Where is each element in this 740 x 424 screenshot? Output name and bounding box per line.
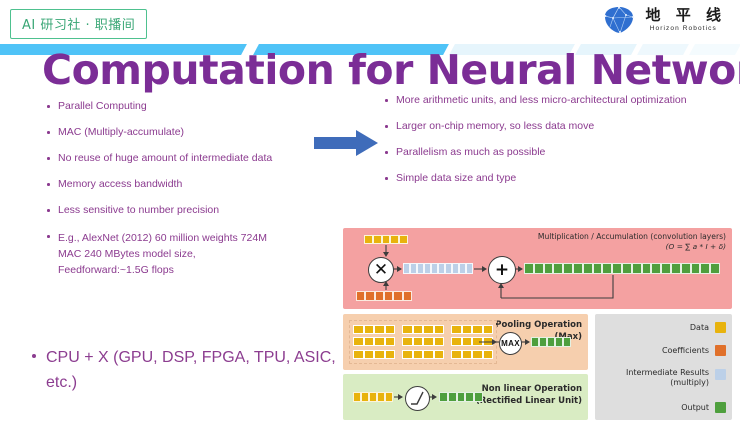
mac-coefficients-strip: [356, 291, 412, 301]
pooling-block: [353, 325, 395, 334]
cpu-plus-x-note: CPU + X (GPU, DSP, FPGA, TPU, ASIC, etc.…: [30, 345, 366, 395]
pooling-grid-row: [353, 325, 493, 334]
logo-chinese-name: 地 平 线: [641, 8, 726, 23]
pooling-block: [451, 337, 493, 346]
list-item: MAC (Multiply-accumulate): [44, 126, 324, 139]
legend-item-data: Data: [600, 322, 726, 333]
relu-input-strip: [353, 392, 393, 402]
legend-label-intermediate-line-2: (multiply): [670, 378, 709, 387]
legend-swatch-output: [715, 402, 726, 413]
legend-label-intermediate: Intermediate Results (multiply): [626, 368, 709, 388]
legend-label-coefficients: Coefficients: [662, 346, 709, 356]
list-item: Parallelism as much as possible: [382, 146, 727, 159]
legend-item-output: Output: [600, 402, 726, 413]
nn-computation-diagram: Multiplication / Accumulation (convoluti…: [343, 228, 732, 420]
alexnet-line-1: E.g., AlexNet (2012) 60 million weights …: [58, 230, 324, 246]
mac-caption-line-1: Multiplication / Accumulation (convoluti…: [496, 232, 726, 242]
add-symbol: +: [495, 262, 509, 279]
mac-data-strip: [364, 235, 408, 244]
pooling-block: [402, 337, 444, 346]
legend-swatch-data: [715, 322, 726, 333]
list-item: Larger on-chip memory, so less data move: [382, 120, 727, 133]
brain-logo-icon: [604, 6, 634, 34]
list-item: No reuse of huge amount of intermediate …: [44, 152, 324, 165]
list-item-alexnet: E.g., AlexNet (2012) 60 million weights …: [44, 230, 324, 278]
relu-panel: Non linear Operation (Rectified Linear U…: [343, 374, 588, 420]
legend-item-coefficients: Coefficients: [600, 345, 726, 356]
mac-caption-formula: (O = ∑ a * I + δ): [496, 242, 726, 252]
pooling-grid-row: [353, 350, 493, 359]
legend-item-intermediate: Intermediate Results (multiply): [600, 368, 726, 388]
multiply-op-icon: ✕: [368, 257, 394, 283]
alexnet-line-3: Feedforward:~1.5G flops: [58, 262, 324, 278]
pooling-grid-row: [353, 337, 493, 346]
legend-label-intermediate-line-1: Intermediate Results: [626, 368, 709, 377]
list-item: Memory access bandwidth: [44, 178, 324, 191]
mac-output-strip: [524, 263, 720, 274]
legend-swatch-intermediate: [715, 369, 726, 380]
relu-caption-line-1: Non linear Operation: [467, 384, 582, 396]
blue-right-arrow-icon: [312, 128, 380, 158]
pooling-output-strip: [531, 337, 571, 347]
pooling-block: [353, 350, 395, 359]
list-item: Simple data size and type: [382, 172, 727, 185]
alexnet-line-2: MAC 240 MBytes model size,: [58, 246, 324, 262]
pooling-input-grid: [349, 320, 497, 364]
relu-caption-line-2: (Rectified Linear Unit): [467, 396, 582, 408]
slide-root: AI 研习社 · 职播间 地 平 线 Horizon Robotics: [0, 0, 740, 424]
left-bullet-list: Parallel Computing MAC (Multiply-accumul…: [44, 100, 324, 291]
diagram-legend: Data Coefficients Intermediate Results (…: [595, 314, 732, 420]
relu-output-strip: [439, 392, 483, 402]
legend-label-data: Data: [690, 323, 709, 333]
page-title: Computation for Neural Networks: [42, 50, 722, 91]
relu-curve-icon: [406, 387, 429, 410]
add-op-icon: +: [488, 256, 516, 284]
relu-op-icon: [405, 386, 430, 411]
pooling-block: [451, 350, 493, 359]
logo-english-name: Horizon Robotics: [650, 26, 717, 33]
list-item: Parallel Computing: [44, 100, 324, 113]
pooling-block: [402, 325, 444, 334]
pooling-panel: Pooling Operation (Max): [343, 314, 588, 370]
horizon-robotics-logo: 地 平 线 Horizon Robotics: [604, 6, 726, 34]
list-item: Less sensitive to number precision: [44, 204, 324, 217]
right-bullet-list: More arithmetic units, and less micro-ar…: [382, 94, 727, 198]
relu-caption: Non linear Operation (Rectified Linear U…: [467, 384, 582, 407]
pooling-block: [451, 325, 493, 334]
pooling-block: [402, 350, 444, 359]
list-item: More arithmetic units, and less micro-ar…: [382, 94, 727, 107]
legend-label-output: Output: [681, 403, 709, 413]
max-label: MAX: [501, 339, 520, 348]
max-op-icon: MAX: [499, 332, 522, 355]
brand-badge: AI 研习社 · 职播间: [10, 9, 147, 39]
pooling-block: [353, 337, 395, 346]
mac-intermediate-strip: [403, 263, 473, 274]
mac-caption: Multiplication / Accumulation (convoluti…: [496, 232, 726, 252]
mac-panel: Multiplication / Accumulation (convoluti…: [343, 228, 732, 309]
multiply-symbol: ✕: [374, 262, 388, 279]
legend-swatch-coefficients: [715, 345, 726, 356]
